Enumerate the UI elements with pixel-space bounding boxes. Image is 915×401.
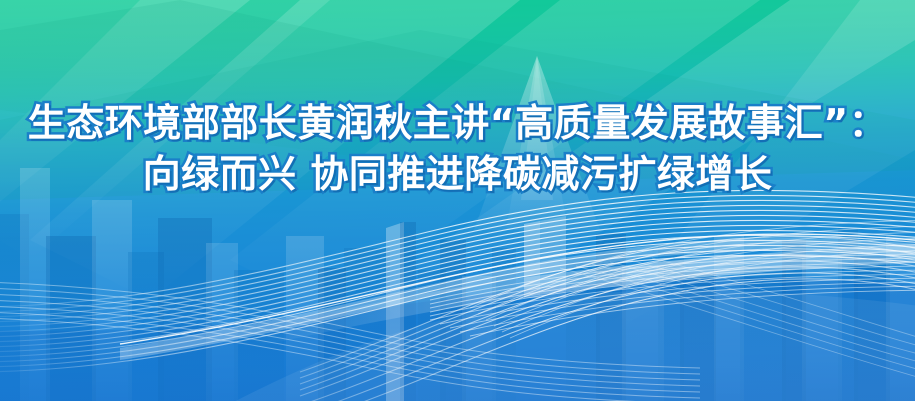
city-skyline-silhouette <box>0 0 915 401</box>
title-line-1: 生态环境部部长黄润秋主讲“高质量发展故事汇”： <box>0 104 915 142</box>
title-line-2: 向绿而兴 协同推进降碳减污扩绿增长 <box>0 155 915 193</box>
upward-arrow-icon <box>0 0 915 401</box>
flowing-wave-lines <box>0 0 915 401</box>
diagonal-light-streaks <box>0 0 915 401</box>
banner: 生态环境部部长黄润秋主讲“高质量发展故事汇”： 向绿而兴 协同推进降碳减污扩绿增… <box>0 0 915 401</box>
banner-title: 生态环境部部长黄润秋主讲“高质量发展故事汇”： 向绿而兴 协同推进降碳减污扩绿增… <box>0 104 915 193</box>
